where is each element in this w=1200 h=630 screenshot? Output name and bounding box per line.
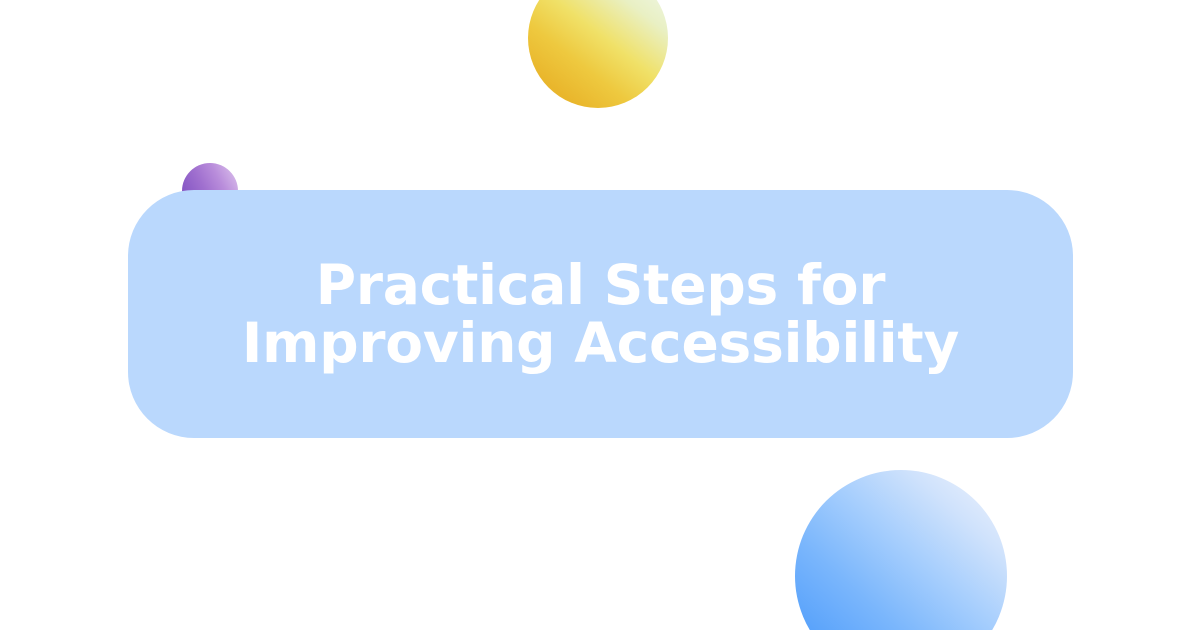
gold-sphere-decoration [528,0,668,108]
page-title: Practical Steps for Improving Accessibil… [128,256,1073,372]
banner-canvas: Practical Steps for Improving Accessibil… [0,0,1200,630]
blue-sphere-decoration [795,470,1007,630]
title-card: Practical Steps for Improving Accessibil… [128,190,1073,438]
